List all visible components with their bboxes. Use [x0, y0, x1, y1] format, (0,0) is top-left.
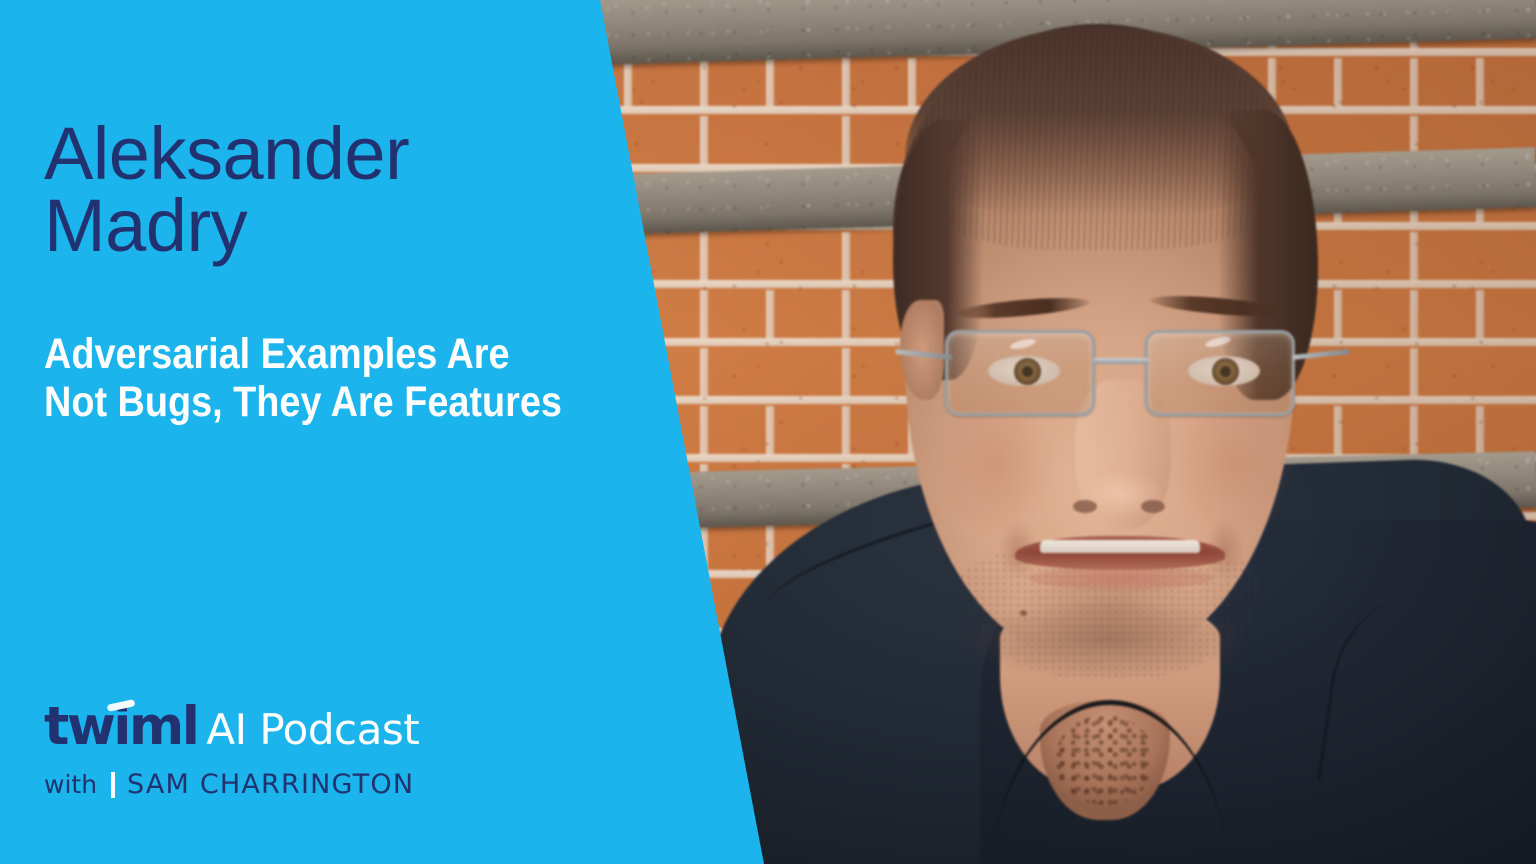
cover-text-content: Aleksander Madry Adversarial Examples Ar… — [0, 0, 800, 864]
episode-title: Adversarial Examples Are Not Bugs, They … — [44, 330, 590, 426]
guest-name-line-2: Madry — [44, 190, 584, 262]
guest-name-line-1: Aleksander — [44, 118, 584, 190]
lower-lip — [1028, 566, 1214, 590]
episode-title-line-1: Adversarial Examples Are — [44, 330, 590, 378]
right-smile-line — [1205, 518, 1245, 580]
logo-host-row: with SAM CHARRINGTON — [44, 769, 419, 800]
guest-name: Aleksander Madry — [44, 118, 584, 262]
teeth — [1040, 540, 1200, 553]
twiml-logo-lockup: twiml AI Podcast with SAM CHARRINGTON — [44, 700, 419, 800]
eyeglasses-bridge — [1093, 358, 1149, 364]
host-name: SAM CHARRINGTON — [127, 769, 414, 800]
twiml-wordmark: twiml — [44, 700, 197, 753]
product-name: AI Podcast — [206, 709, 419, 751]
logo-divider — [111, 772, 115, 798]
left-smile-line — [998, 520, 1038, 580]
right-nostril — [1141, 500, 1165, 513]
podcast-episode-cover: Aleksander Madry Adversarial Examples Ar… — [0, 0, 1536, 864]
left-nostril — [1073, 500, 1097, 513]
logo-primary-row: twiml AI Podcast — [44, 700, 419, 753]
chin-mole — [1020, 610, 1027, 616]
with-label: with — [44, 770, 97, 799]
episode-title-line-2: Not Bugs, They Are Features — [44, 378, 590, 426]
